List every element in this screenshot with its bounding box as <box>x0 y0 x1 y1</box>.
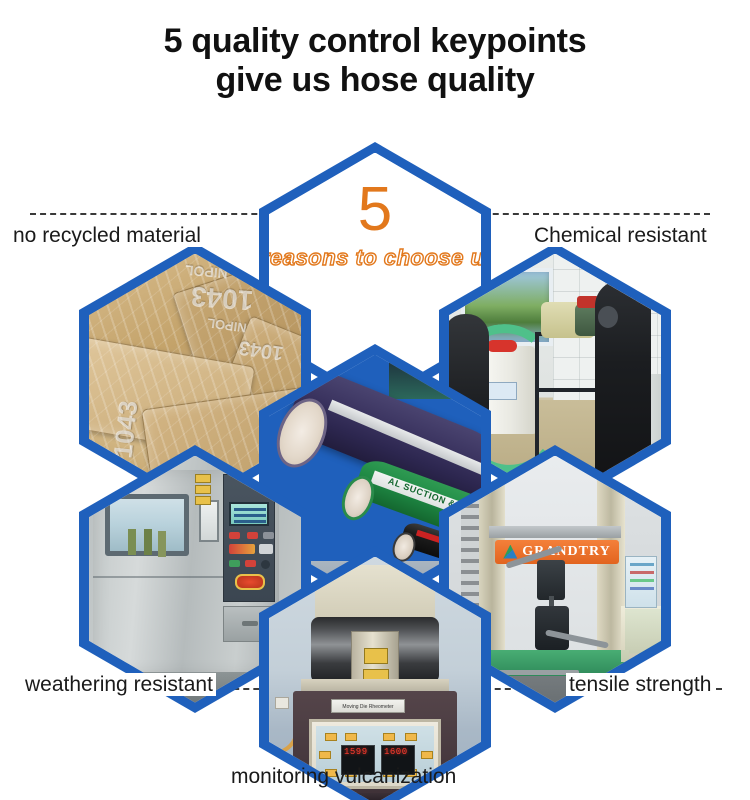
label-weathering-resistant: weathering resistant <box>22 673 216 696</box>
hanging-bag <box>621 606 661 662</box>
label-monitoring-vulcanization: monitoring vulcanization <box>228 765 459 788</box>
promo-number: 5 <box>269 179 481 241</box>
hexagon-inner-rheometer: Moving Die Rheometer 1599 <box>269 557 481 800</box>
rheometer-feet <box>299 793 451 800</box>
chamber-window <box>105 494 189 556</box>
chamber-seam <box>93 576 223 578</box>
label-no-recycled-material: no recycled material <box>10 224 204 247</box>
warning-stickers <box>195 474 211 508</box>
display-value-1: 1599 <box>344 747 368 757</box>
panel-button <box>245 560 256 567</box>
label-chemical-resistant: Chemical resistant <box>531 224 710 247</box>
panel-button <box>247 532 258 539</box>
photo-rheometer: Moving Die Rheometer 1599 <box>269 557 481 800</box>
indicator-lamp <box>421 751 433 759</box>
promo-subtitle: reasons to choose us <box>269 245 481 271</box>
panel-button <box>229 532 240 539</box>
indicator-lamp <box>325 733 337 741</box>
panel-button <box>261 560 270 569</box>
rheometer-nameplate: Moving Die Rheometer <box>331 699 405 713</box>
triangle-logo-icon <box>503 545 517 559</box>
chamber-display <box>229 502 269 526</box>
panel-button <box>229 544 255 554</box>
panel-button <box>263 532 274 539</box>
machine-grip-lower <box>535 606 569 650</box>
panel-button <box>259 544 273 554</box>
wall-chart <box>625 556 657 608</box>
gas-mask-icon <box>598 306 618 328</box>
machine-grip-upper <box>537 560 565 600</box>
indicator-lamp <box>345 733 357 741</box>
emergency-stop-knob <box>235 574 265 590</box>
display-value-2: 1600 <box>384 747 408 757</box>
indicator-lamp <box>405 733 417 741</box>
label-tensile-strength: tensile strength <box>566 673 714 696</box>
machine-crosshead <box>489 526 621 538</box>
panel-button <box>229 560 240 567</box>
indicator-lamp <box>319 751 331 759</box>
indicator-lamp <box>383 733 395 741</box>
infographic-root: 5 quality control keypoints give us hose… <box>0 0 750 800</box>
